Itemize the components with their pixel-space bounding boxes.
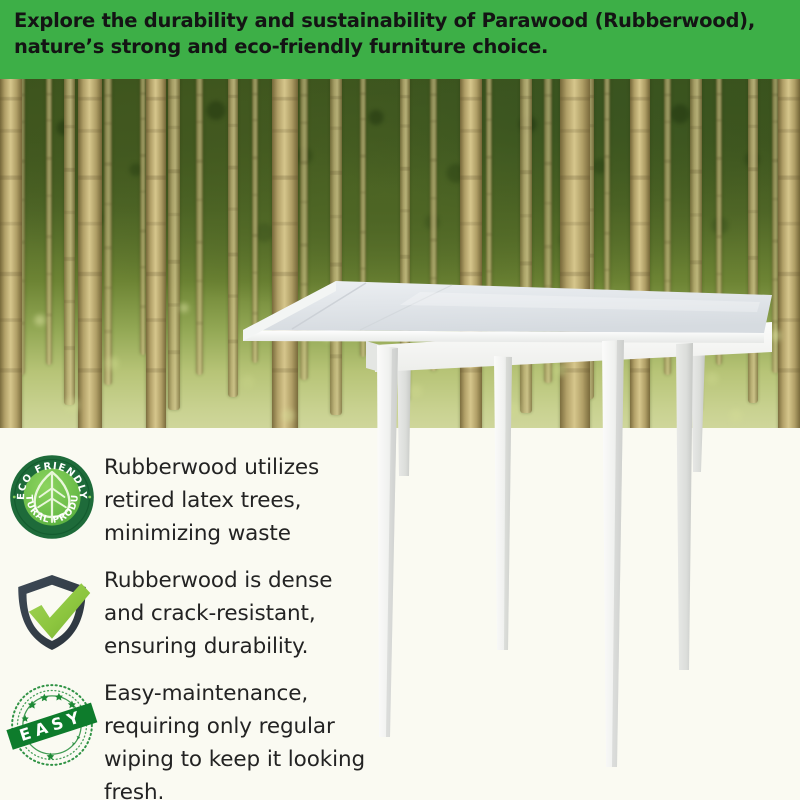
- rubberwood-forest-photo: [0, 79, 800, 428]
- header-banner: Explore the durability and sustainabilit…: [0, 0, 800, 79]
- feature-icon-slot: ECO FRIENDLY NATURAL PRODUCT: [0, 443, 104, 547]
- list-item: Rubberwood is dense and crack-resistant,…: [0, 556, 420, 663]
- badge-dot-left: [13, 496, 16, 499]
- infographic-page: Explore the durability and sustainabilit…: [0, 0, 800, 800]
- badge-dot-right: [88, 496, 91, 499]
- feature-text: Rubberwood utilizes retired latex trees,…: [104, 443, 420, 550]
- shield-checkmark-icon: [7, 566, 97, 656]
- feature-list: ECO FRIENDLY NATURAL PRODUCT Rubberwood …: [0, 443, 420, 800]
- forest-floor-texture: [0, 274, 800, 428]
- star-icon: [40, 694, 48, 702]
- stamp-banner: EASY: [6, 703, 97, 750]
- eco-friendly-leaf-badge-icon: ECO FRIENDLY NATURAL PRODUCT: [8, 453, 96, 541]
- star-icon: [55, 693, 63, 701]
- feature-icon-slot: EASY: [0, 669, 104, 773]
- stamp-banner-label: EASY: [17, 706, 86, 745]
- list-item: EASY Easy-maintenance, requiring only re…: [0, 669, 420, 800]
- feature-text: Easy-maintenance, requiring only regular…: [104, 669, 420, 800]
- page-title: Explore the durability and sustainabilit…: [14, 8, 798, 60]
- easy-stamp-icon: EASY: [6, 679, 98, 771]
- list-item: ECO FRIENDLY NATURAL PRODUCT Rubberwood …: [0, 443, 420, 550]
- feature-text: Rubberwood is dense and crack-resistant,…: [104, 556, 420, 663]
- feature-icon-slot: [0, 556, 104, 660]
